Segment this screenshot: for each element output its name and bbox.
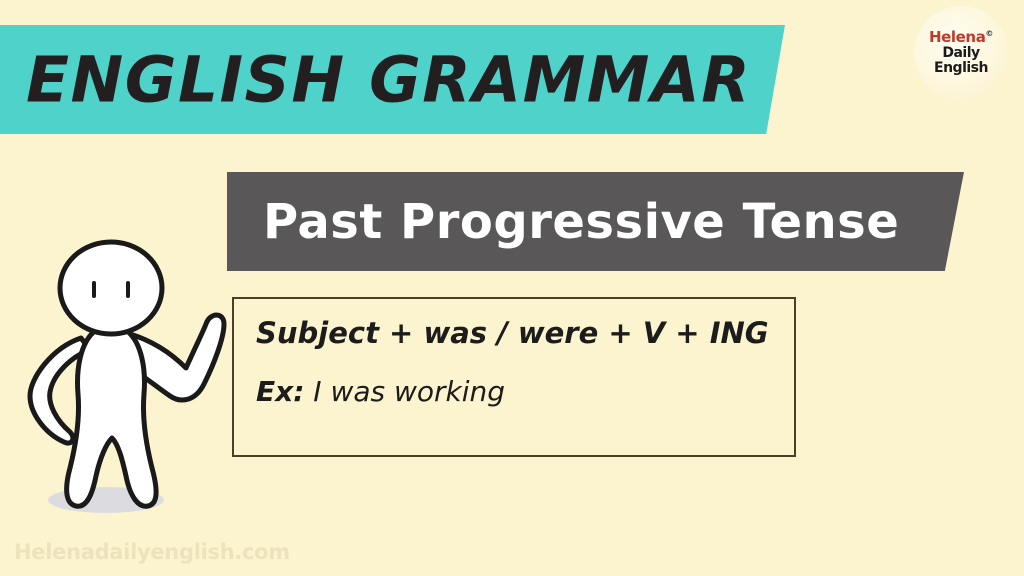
subtitle-text: Past Progressive Tense — [263, 198, 899, 246]
slide-canvas: ENGLISH GRAMMAR Helena© Daily English Pa… — [0, 0, 1024, 576]
brand-name-text: Helena — [929, 28, 985, 46]
brand-logo-line2: Daily English — [914, 46, 1008, 75]
header-banner: ENGLISH GRAMMAR — [0, 25, 785, 134]
example-label: Ex: — [256, 375, 304, 408]
formula-example: Ex: I was working — [256, 376, 772, 408]
page-title: ENGLISH GRAMMAR — [26, 48, 751, 111]
brand-logo: Helena© Daily English — [914, 6, 1008, 100]
example-sentence: I was working — [313, 375, 505, 408]
formula-structure: Subject + was / were + V + ING — [256, 317, 772, 350]
copyright-icon: © — [985, 29, 993, 38]
mascot-figure — [18, 238, 248, 528]
stick-figure-icon — [18, 238, 248, 528]
formula-box: Subject + was / were + V + ING Ex: I was… — [232, 297, 796, 457]
subtitle-banner: Past Progressive Tense — [227, 172, 964, 271]
footer-website: Helenadailyenglish.com — [14, 540, 290, 564]
brand-logo-line1: Helena© — [929, 30, 993, 46]
